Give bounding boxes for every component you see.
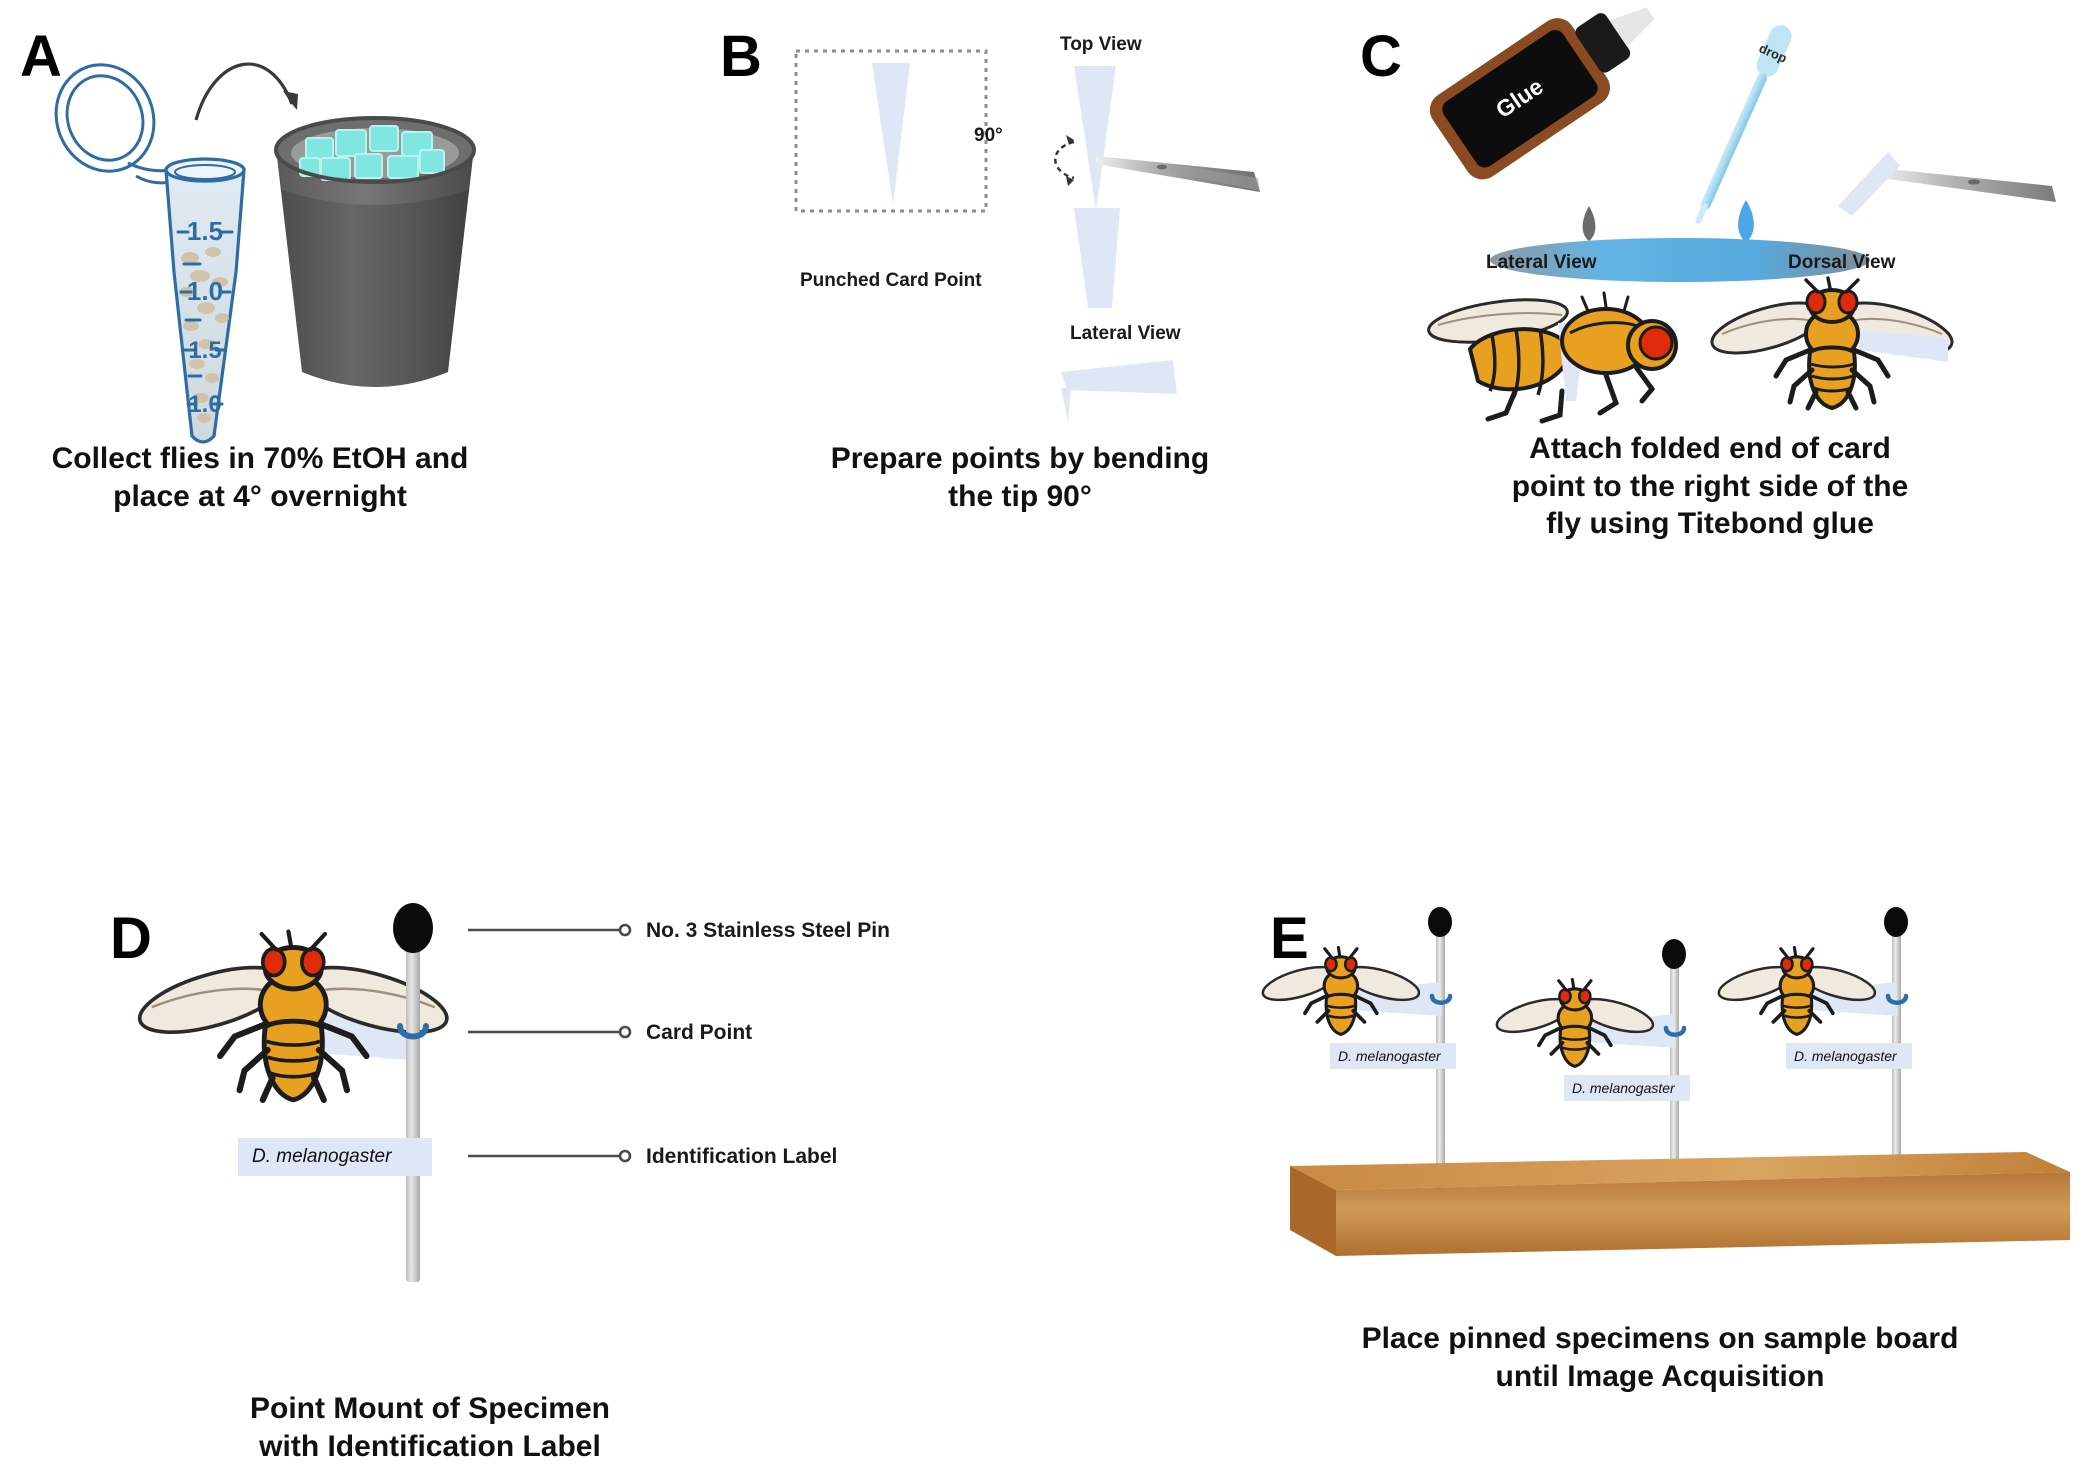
panel-d-caption: Point Mount of Specimen with Identificat…: [150, 1390, 710, 1465]
fly-dorsal-icon: [133, 932, 454, 1100]
panel-d: D: [90, 900, 1040, 1460]
id-label-e-1: D. melanogaster: [1564, 1075, 1690, 1101]
panel-a-caption: Collect flies in 70% EtOH and place at 4…: [20, 440, 500, 515]
panel-d-illustration: [90, 900, 1040, 1300]
sample-board-icon: [1290, 1152, 2070, 1256]
card-point-triangle-icon: [1074, 66, 1116, 210]
panel-e-caption-line-0: Place pinned specimens on sample board: [1250, 1320, 2070, 1358]
panel-b-letter: B: [720, 28, 762, 86]
id-label-e-2: D. melanogaster: [1786, 1043, 1912, 1069]
panel-e: E: [1250, 900, 2100, 1460]
id-label-d: D. melanogaster: [238, 1138, 432, 1176]
punched-card-point-label: Punched Card Point: [800, 270, 982, 292]
fly-bristles-icon: [1559, 980, 1591, 991]
fly-lateral-illustration: [1420, 285, 1700, 425]
panel-e-caption: Place pinned specimens on sample board u…: [1250, 1320, 2070, 1395]
fly-eye-icon: [1640, 327, 1672, 359]
rotation-arrow-icon: [1055, 135, 1074, 186]
panel-a-caption-line-0: Collect flies in 70% EtOH and: [20, 440, 500, 478]
fly-eye-icon: [302, 949, 324, 976]
fly-body-icon: [1806, 290, 1858, 408]
fly-abdomen-icon: [1470, 329, 1570, 397]
water-drop-icon: [1738, 200, 1754, 242]
punched-card-illustration: [790, 45, 1020, 275]
glue-drop-icon: [1583, 206, 1596, 241]
id-label-text: D. melanogaster: [252, 1146, 391, 1168]
angle-90-label: 90°: [974, 125, 1003, 147]
fly-dorsal-illustration: [1710, 278, 1970, 418]
callout-id-label: Identification Label: [646, 1145, 837, 1169]
fly-eye-icon: [1579, 989, 1590, 1003]
lateral-view-label-c: Lateral View: [1486, 252, 1597, 274]
bent-point-top-view: [1020, 200, 1180, 340]
pin-head-icon: [393, 903, 433, 953]
fly-eye-icon: [263, 949, 285, 976]
panel-b-caption-line-1: the tip 90°: [700, 478, 1340, 516]
fly-thorax-head-icon: [1562, 309, 1676, 373]
panel-d-caption-line-1: with Identification Label: [150, 1428, 710, 1466]
card-point-triangle-icon: [872, 63, 910, 205]
panel-e-caption-line-1: until Image Acquisition: [1250, 1358, 2070, 1396]
id-label-text: D. melanogaster: [1572, 1080, 1675, 1096]
fly-bristles-icon: [1781, 948, 1813, 959]
pin-head-icon: [1428, 907, 1452, 937]
forceps-icon: [1096, 156, 1260, 192]
fly-eye-icon: [1325, 957, 1336, 971]
id-label-e-0: D. melanogaster: [1330, 1043, 1456, 1069]
tube-grad-1: 1.0: [187, 276, 223, 306]
callout-pin-label: No. 3 Stainless Steel Pin: [646, 919, 890, 943]
fly-bristles-icon: [1325, 948, 1357, 959]
callout-card-point-label: Card Point: [646, 1021, 752, 1045]
glue-bottle-icon: Glue: [1423, 0, 1677, 186]
panel-b: B Punched Card Point Top View 90°: [700, 0, 1340, 560]
tube-grad-2: 1.5: [188, 337, 221, 364]
panel-c-caption-line-1: point to the right side of the: [1380, 468, 2040, 506]
panel-c-caption-line-0: Attach folded end of card: [1380, 430, 2040, 468]
fly-eye-icon: [1801, 957, 1812, 971]
microcentrifuge-tube-icon: 1.5 1.0 1.5 1.0: [166, 159, 244, 442]
tube-cap-icon: [40, 50, 172, 186]
panel-c: C Glue: [1340, 0, 2100, 560]
pipette-icon: drop: [1684, 20, 1798, 229]
callout-leader-lines: [468, 925, 630, 1161]
panel-a-caption-line-1: place at 4° overnight: [20, 478, 500, 516]
insect-pin-icon: [406, 942, 420, 1282]
tube-grad-3: 1.0: [188, 391, 221, 418]
fly-eye-icon: [1345, 957, 1356, 971]
fly-eye-icon: [1839, 291, 1857, 313]
lateral-view-illustration: [1055, 350, 1245, 440]
fly-eye-icon: [1559, 989, 1570, 1003]
id-label-text: D. melanogaster: [1338, 1048, 1441, 1064]
panel-b-caption: Prepare points by bending the tip 90°: [700, 440, 1340, 515]
panel-a-illustration: 1.5 1.0 1.5 1.0: [0, 20, 520, 450]
lateral-view-label-b: Lateral View: [1070, 323, 1181, 345]
panel-c-caption: Attach folded end of card point to the r…: [1380, 430, 2040, 543]
tube-grad-0: 1.5: [187, 216, 223, 246]
fly-eye-icon: [1807, 291, 1825, 313]
card-point-triangle-icon: [1838, 152, 1900, 216]
forceps-icon: [1880, 168, 2056, 202]
dorsal-view-label-c: Dorsal View: [1788, 252, 1895, 274]
transfer-arrow-icon: [196, 64, 298, 120]
pin-head-icon: [1662, 939, 1686, 969]
panel-a: A: [0, 0, 520, 560]
id-label-text: D. melanogaster: [1794, 1048, 1897, 1064]
panel-c-top-illustration: Glue drop: [1340, 10, 2100, 290]
fly-eye-icon: [1781, 957, 1792, 971]
panel-b-caption-line-0: Prepare points by bending: [700, 440, 1340, 478]
panel-d-caption-line-0: Point Mount of Specimen: [150, 1390, 710, 1428]
top-view-label: Top View: [1060, 34, 1142, 56]
pin-head-icon: [1884, 907, 1908, 937]
ice-bucket-icon: [276, 118, 474, 387]
panel-c-caption-line-2: fly using Titebond glue: [1380, 505, 2040, 543]
